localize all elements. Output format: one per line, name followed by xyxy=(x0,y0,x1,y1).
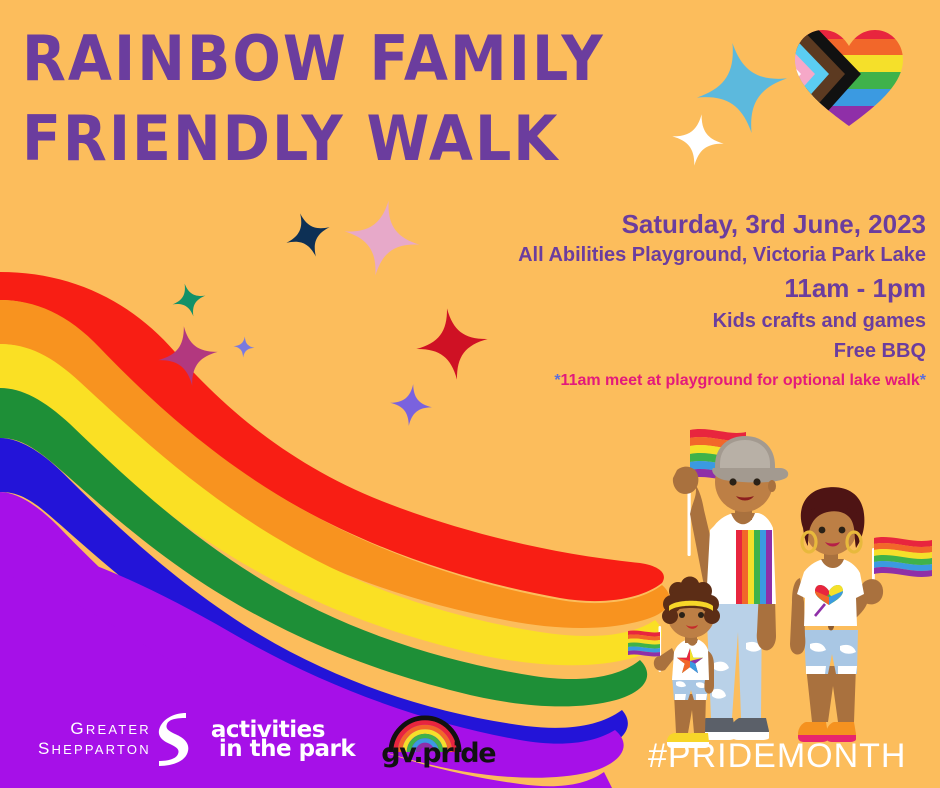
sparkle-magenta-icon xyxy=(154,322,222,390)
event-details: Saturday, 3rd June, 2023 All Abilities P… xyxy=(366,208,926,394)
logo-activities-in-the-park: activities in the park xyxy=(211,719,355,760)
teen-legs xyxy=(806,666,856,722)
sparkle-periwinkle-small-icon xyxy=(233,336,256,359)
aitp-line2: in the park xyxy=(219,738,355,760)
event-time: 11am - 1pm xyxy=(366,270,926,306)
title-line-1: RAINBOW FAMILY xyxy=(22,16,622,102)
gs-line1-cap: G xyxy=(70,719,85,738)
note-close-asterisk: * xyxy=(920,372,926,389)
family-illustration xyxy=(628,418,940,760)
event-date: Saturday, 3rd June, 2023 xyxy=(366,208,926,240)
event-activity-crafts: Kids crafts and games xyxy=(366,306,926,336)
sparkle-teal-icon xyxy=(168,279,210,321)
gs-line2-rest: HEPPARTON xyxy=(52,742,151,757)
page-title: RAINBOW FAMILY FRIENDLY WALK xyxy=(22,16,622,174)
adult-fist xyxy=(673,467,699,494)
progress-pride-heart-icon xyxy=(789,22,909,130)
sparkle-navy-icon xyxy=(279,206,338,265)
title-line-2: FRIENDLY WALK xyxy=(22,96,622,182)
event-note: *11am meet at playground for optional la… xyxy=(366,368,926,394)
logo-gv-pride: gv.pride xyxy=(381,712,485,766)
logo-greater-shepparton: GREATER SHEPPARTON xyxy=(38,711,189,767)
pride-event-poster: RAINBOW FAMILY FRIENDLY WALK Saturday, 3… xyxy=(0,0,940,788)
adult-tank-rainbow-stripes xyxy=(736,530,772,604)
gs-line2-cap: S xyxy=(38,739,52,758)
note-text: 11am meet at playground for optional lak… xyxy=(561,372,920,389)
event-location: All Abilities Playground, Victoria Park … xyxy=(366,240,926,270)
gv-pride-wordmark: gv.pride xyxy=(381,740,495,767)
greater-shepparton-wordmark: GREATER SHEPPARTON xyxy=(38,719,151,759)
sparkle-white-icon xyxy=(669,111,728,170)
event-activity-bbq: Free BBQ xyxy=(366,336,926,366)
gs-line1-rest: REATER xyxy=(86,722,151,737)
sponsor-logos: GREATER SHEPPARTON activities in the par… xyxy=(38,710,485,768)
hashtag-pridemonth: #PRIDEMONTH xyxy=(648,737,906,776)
greater-shepparton-swoosh-icon xyxy=(155,711,189,767)
sparkle-sky-blue-icon xyxy=(687,33,796,142)
